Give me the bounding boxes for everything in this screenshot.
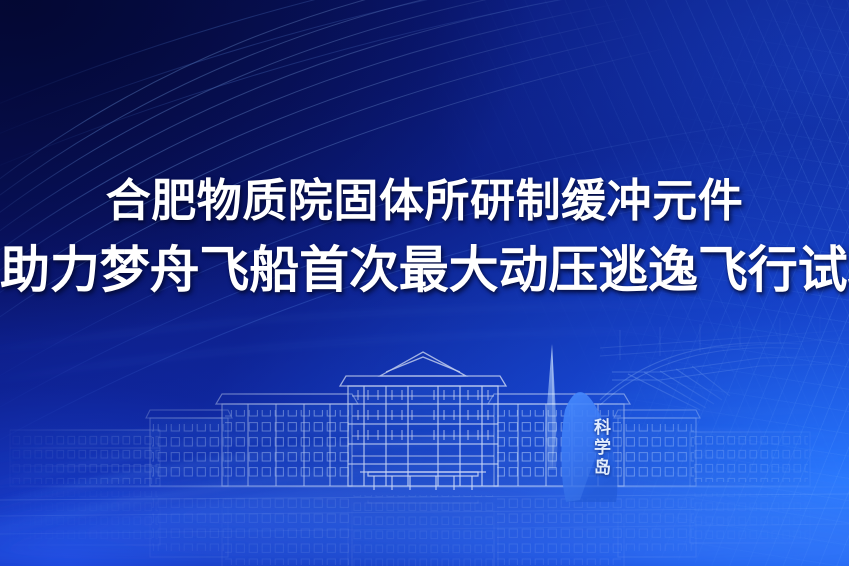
campus-scene-illustration [0,0,849,566]
stone-calligraphy-text: 科学岛 [578,418,612,478]
promotional-banner: 科学岛 合肥物质院固体所研制缓冲元件 助力梦舟飞船首次最大动压逃逸飞行试验 [0,0,849,566]
arch-bridge-graphic [600,315,849,412]
building-reflection-graphic [10,489,810,566]
institute-building-graphic [0,352,849,490]
